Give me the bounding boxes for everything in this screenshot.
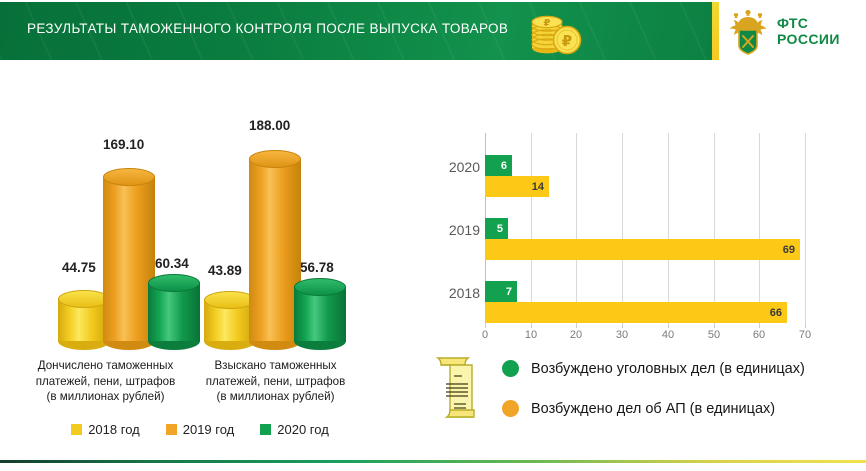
bar-value-2018-criminal: 7 <box>506 286 517 298</box>
bar-2019-administrative[interactable]: 69 <box>485 239 800 260</box>
category-label-line: Взыскано таможенных <box>188 358 363 374</box>
bar-value-label: 44.75 <box>62 260 96 275</box>
fts-logo: ФТС РОССИИ <box>726 5 858 57</box>
fts-logo-text: ФТС РОССИИ <box>777 15 840 47</box>
bar-value-label: 43.89 <box>208 263 242 278</box>
orange-dot-icon <box>502 400 519 417</box>
fts-logo-line2: РОССИИ <box>777 31 840 47</box>
bottom-gradient-strip <box>0 460 866 463</box>
bar-2020-administrative[interactable]: 14 <box>485 176 549 197</box>
category-label-line: (в миллионах рублей) <box>188 389 363 405</box>
gridline-20 <box>576 133 577 323</box>
bar-value-label: 169.10 <box>103 137 144 152</box>
svg-text:₽: ₽ <box>544 18 551 29</box>
right-chart-legend: Возбуждено уголовных дел (в единицах) Во… <box>432 352 862 432</box>
bar-value-label: 60.34 <box>155 256 189 271</box>
x-axis-tick-30: 30 <box>616 329 628 341</box>
document-scroll-icon <box>432 352 482 424</box>
y-axis-label-2020: 2020 <box>425 159 480 175</box>
svg-text:₽: ₽ <box>562 32 572 50</box>
category-label-line: платежей, пени, штрафов <box>188 374 363 390</box>
y-axis-label-2019: 2019 <box>425 222 480 238</box>
category-label-collected: Взыскано таможенных платежей, пени, штра… <box>188 358 363 405</box>
bar-value-2018-administrative: 66 <box>770 307 787 319</box>
gridline-40 <box>668 133 669 323</box>
x-axis-tick-0: 0 <box>482 329 488 341</box>
category-label-line: (в миллионах рублей) <box>18 389 193 405</box>
category-label-line: Дончислено таможенных <box>18 358 193 374</box>
xtick-mark <box>576 323 577 328</box>
x-axis-tick-50: 50 <box>708 329 720 341</box>
xtick-mark <box>805 323 806 328</box>
y-axis-label-2018: 2018 <box>425 285 480 301</box>
russian-eagle-emblem-icon <box>726 6 770 56</box>
legend-label-2020: 2020 год <box>277 422 329 437</box>
right-legend-label-criminal: Возбуждено уголовных дел (в единицах) <box>531 361 805 377</box>
bar-value-2020-administrative: 14 <box>532 181 549 193</box>
legend-item-2020[interactable]: 2020 год <box>260 422 329 437</box>
x-axis-tick-40: 40 <box>662 329 674 341</box>
x-axis-tick-10: 10 <box>525 329 537 341</box>
legend-label-2019: 2019 год <box>183 422 235 437</box>
xtick-mark <box>668 323 669 328</box>
bar-value-label: 188.00 <box>249 118 290 133</box>
legend-swatch-2019-icon <box>166 424 177 435</box>
gridline-10 <box>531 133 532 323</box>
cases-horizontal-bar-chart: 2020 2019 2018 6 14 5 69 7 66 <box>425 125 845 350</box>
bar-value-2020-criminal: 6 <box>501 160 512 172</box>
gridline-30 <box>622 133 623 323</box>
legend-swatch-2020-icon <box>260 424 271 435</box>
bar-value-label: 56.78 <box>300 260 334 275</box>
header-yellow-divider <box>712 2 719 60</box>
page-title: РЕЗУЛЬТАТЫ ТАМОЖЕННОГО КОНТРОЛЯ ПОСЛЕ ВЫ… <box>27 21 508 36</box>
xtick-mark <box>531 323 532 328</box>
xtick-mark <box>714 323 715 328</box>
customs-payments-cylinder-chart: 44.75 169.10 60.34 43.89 188.00 56.78 <box>0 70 400 465</box>
x-axis-tick-20: 20 <box>570 329 582 341</box>
legend-item-2018[interactable]: 2018 год <box>71 422 140 437</box>
x-axis-tick-70: 70 <box>799 329 811 341</box>
legend-item-2019[interactable]: 2019 год <box>166 422 235 437</box>
legend-label-2018: 2018 год <box>88 422 140 437</box>
bar-2020-criminal[interactable]: 6 <box>485 155 512 176</box>
cylinder-bar-2020-collected <box>294 278 346 350</box>
right-legend-item-criminal[interactable]: Возбуждено уголовных дел (в единицах) <box>502 360 805 377</box>
cylinder-bar-2020-accrued <box>148 274 200 350</box>
right-legend-item-administrative[interactable]: Возбуждено дел об АП (в единицах) <box>502 400 775 417</box>
right-legend-label-administrative: Возбуждено дел об АП (в единицах) <box>531 401 775 417</box>
plot-area: 6 14 5 69 7 66 0 10 20 30 40 50 <box>485 133 805 323</box>
bar-2019-criminal[interactable]: 5 <box>485 218 508 239</box>
bar-2018-criminal[interactable]: 7 <box>485 281 517 302</box>
category-label-line: платежей, пени, штрафов <box>18 374 193 390</box>
xtick-mark <box>622 323 623 328</box>
bar-value-2019-criminal: 5 <box>497 223 508 235</box>
xtick-mark <box>485 323 486 328</box>
legend-swatch-2018-icon <box>71 424 82 435</box>
xtick-mark <box>759 323 760 328</box>
ruble-coins-icon: ₽ ₽ <box>523 8 587 56</box>
gridline-60 <box>759 133 760 323</box>
category-label-accrued: Дончислено таможенных платежей, пени, шт… <box>18 358 193 405</box>
gridline-50 <box>714 133 715 323</box>
left-chart-legend: 2018 год 2019 год 2020 год <box>0 422 400 437</box>
green-dot-icon <box>502 360 519 377</box>
fts-logo-line1: ФТС <box>777 15 840 31</box>
gridline-70 <box>805 133 806 323</box>
bar-value-2019-administrative: 69 <box>783 244 800 256</box>
bar-2018-administrative[interactable]: 66 <box>485 302 787 323</box>
page-header: РЕЗУЛЬТАТЫ ТАМОЖЕННОГО КОНТРОЛЯ ПОСЛЕ ВЫ… <box>0 0 866 62</box>
x-axis-tick-60: 60 <box>753 329 765 341</box>
